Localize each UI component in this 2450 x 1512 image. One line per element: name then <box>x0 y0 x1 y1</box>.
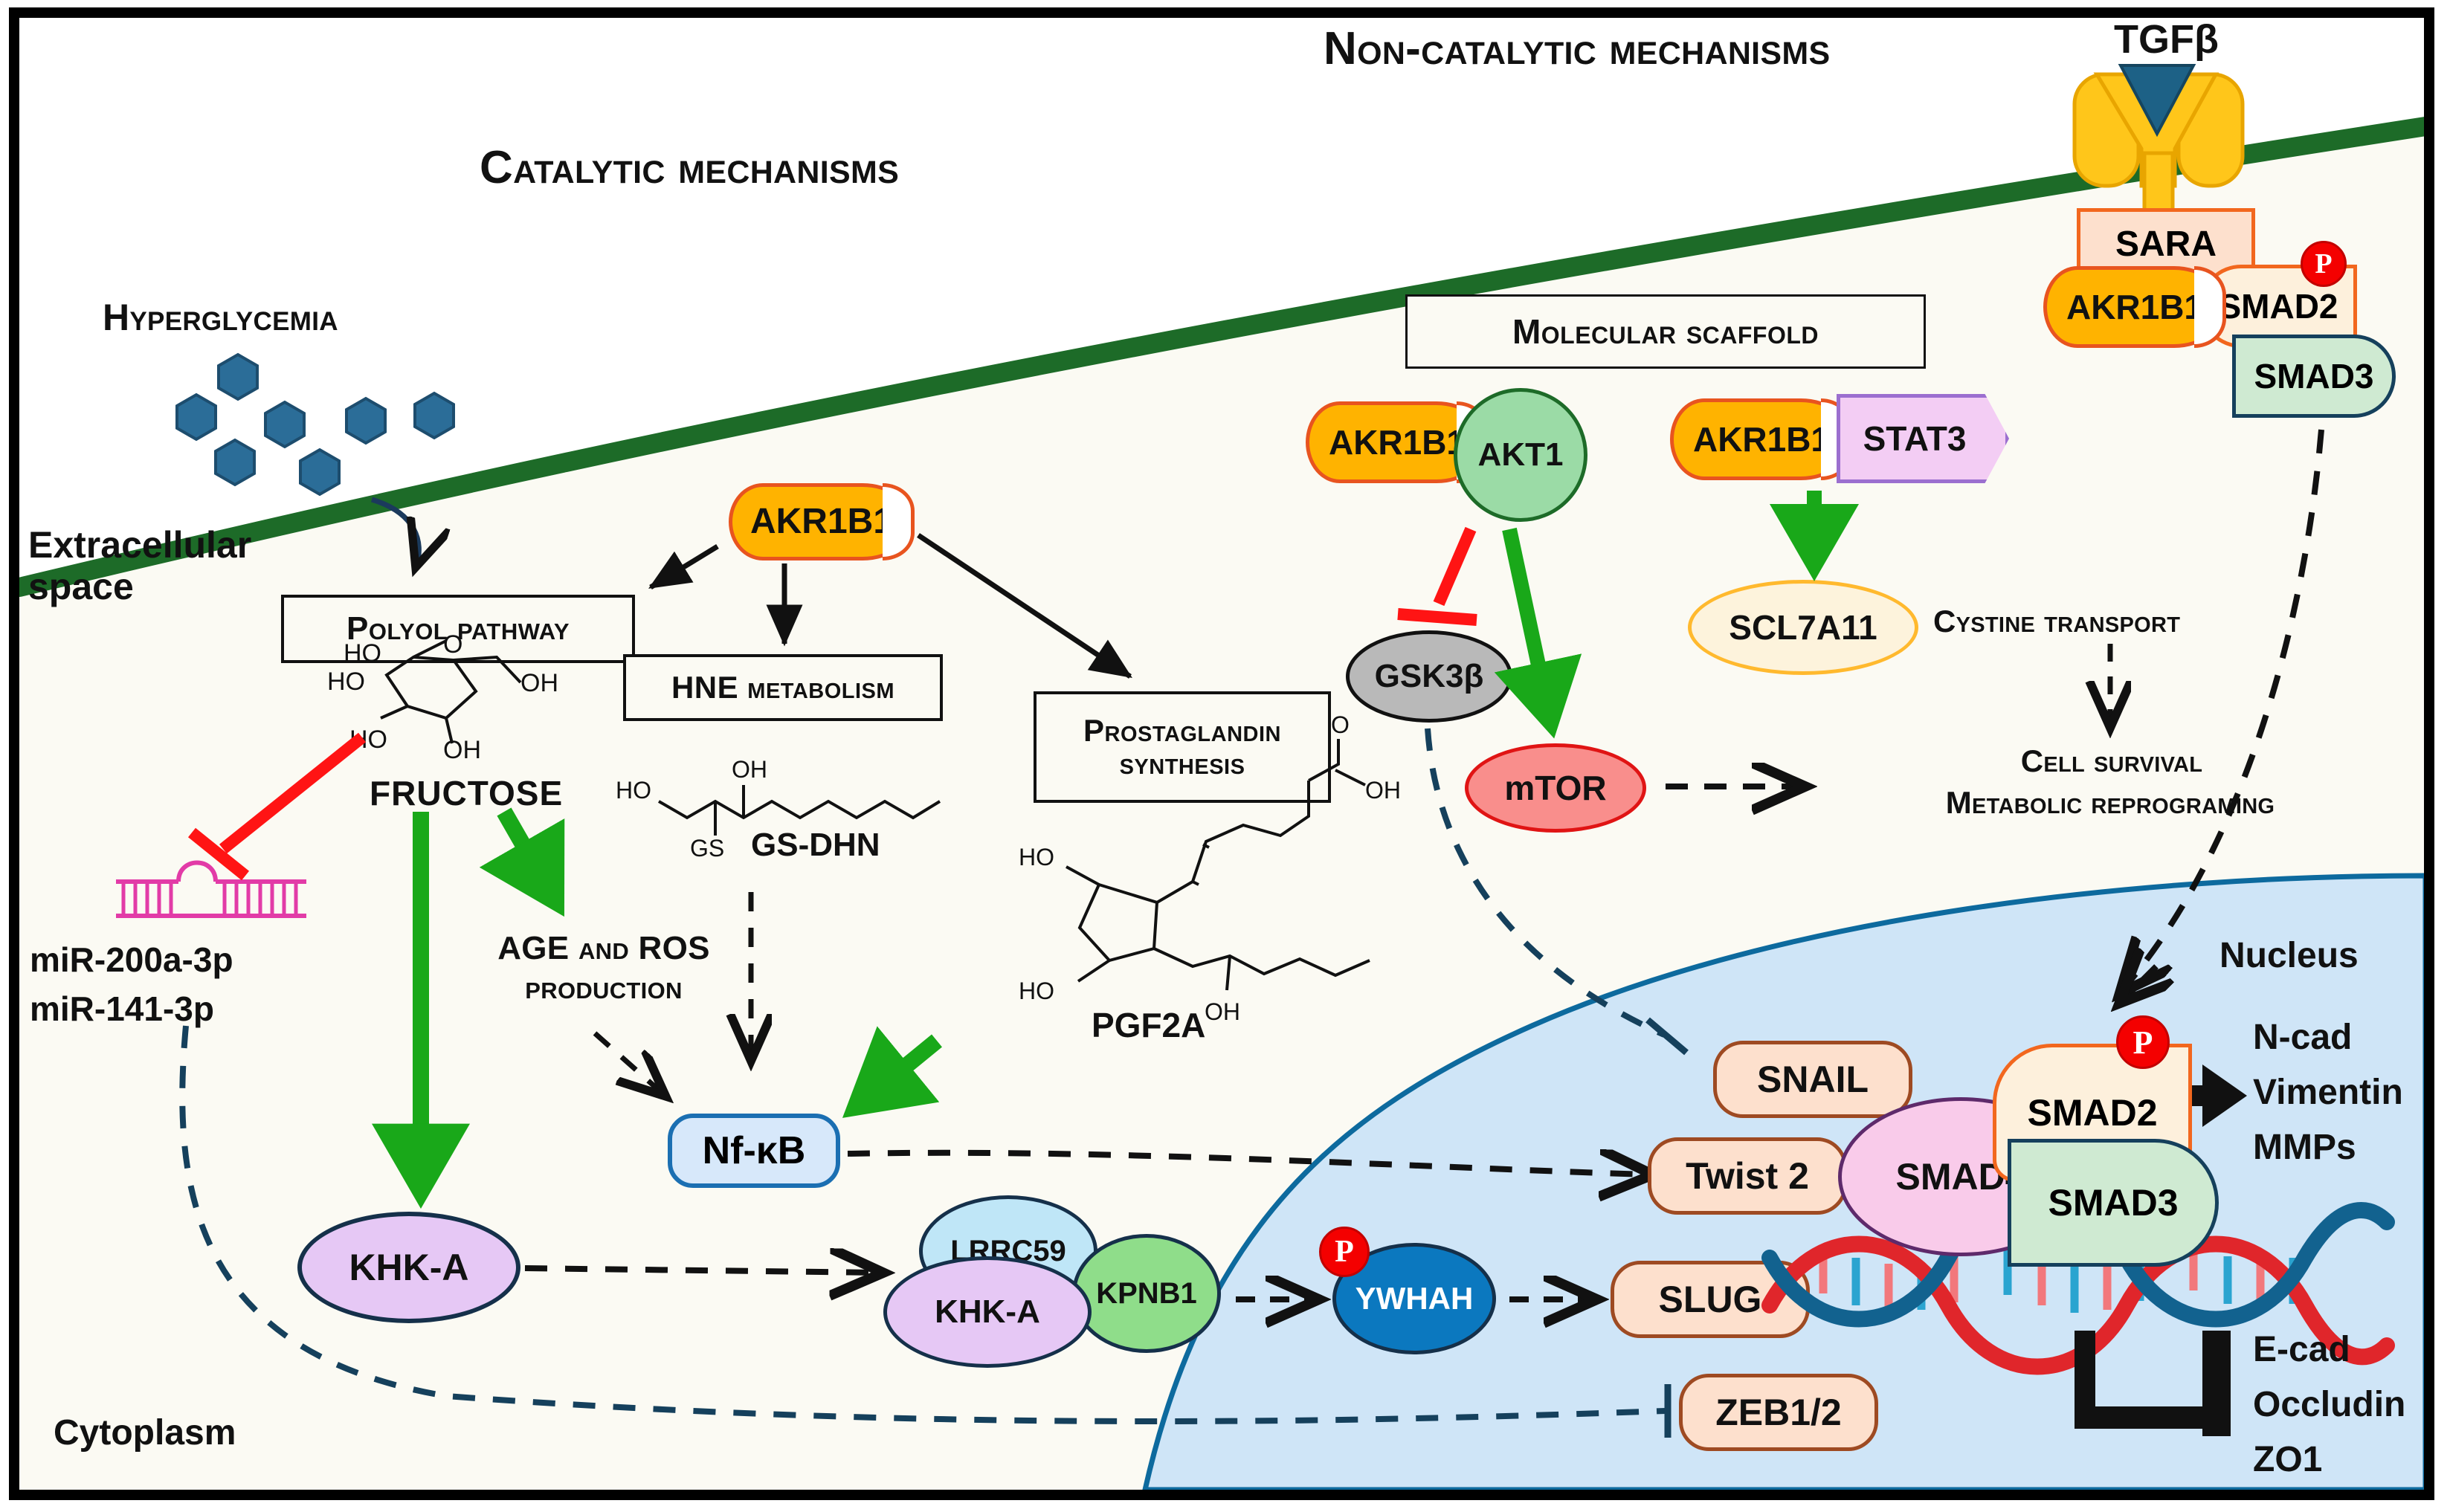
phospho-smad2-membrane: P <box>2301 241 2347 287</box>
nucleus-entry-marker <box>0 0 2450 1512</box>
smad3-nucleus[interactable]: SMAD3 <box>2008 1139 2219 1267</box>
ywhah-label: YWHAH <box>1355 1282 1474 1315</box>
stat3-node[interactable]: STAT3 <box>1837 394 2009 483</box>
akt1-node[interactable]: AKT1 <box>1454 388 1587 522</box>
smad3-membrane[interactable]: SMAD3 <box>2232 335 2396 418</box>
akr1b1-stat3-partner[interactable]: AKR1B1 <box>1670 398 1853 480</box>
phospho-smad2-nucleus: P <box>2116 1015 2170 1069</box>
khk-a-nucleus-complex[interactable]: KHK-A <box>883 1256 1092 1368</box>
kpnb1-node[interactable]: KPNB1 <box>1072 1234 1221 1353</box>
akr1b1-membrane-complex[interactable]: AKR1B1 <box>2043 266 2226 348</box>
kpnb1-label: KPNB1 <box>1096 1278 1197 1309</box>
phospho-ywhah: P <box>1319 1227 1370 1277</box>
